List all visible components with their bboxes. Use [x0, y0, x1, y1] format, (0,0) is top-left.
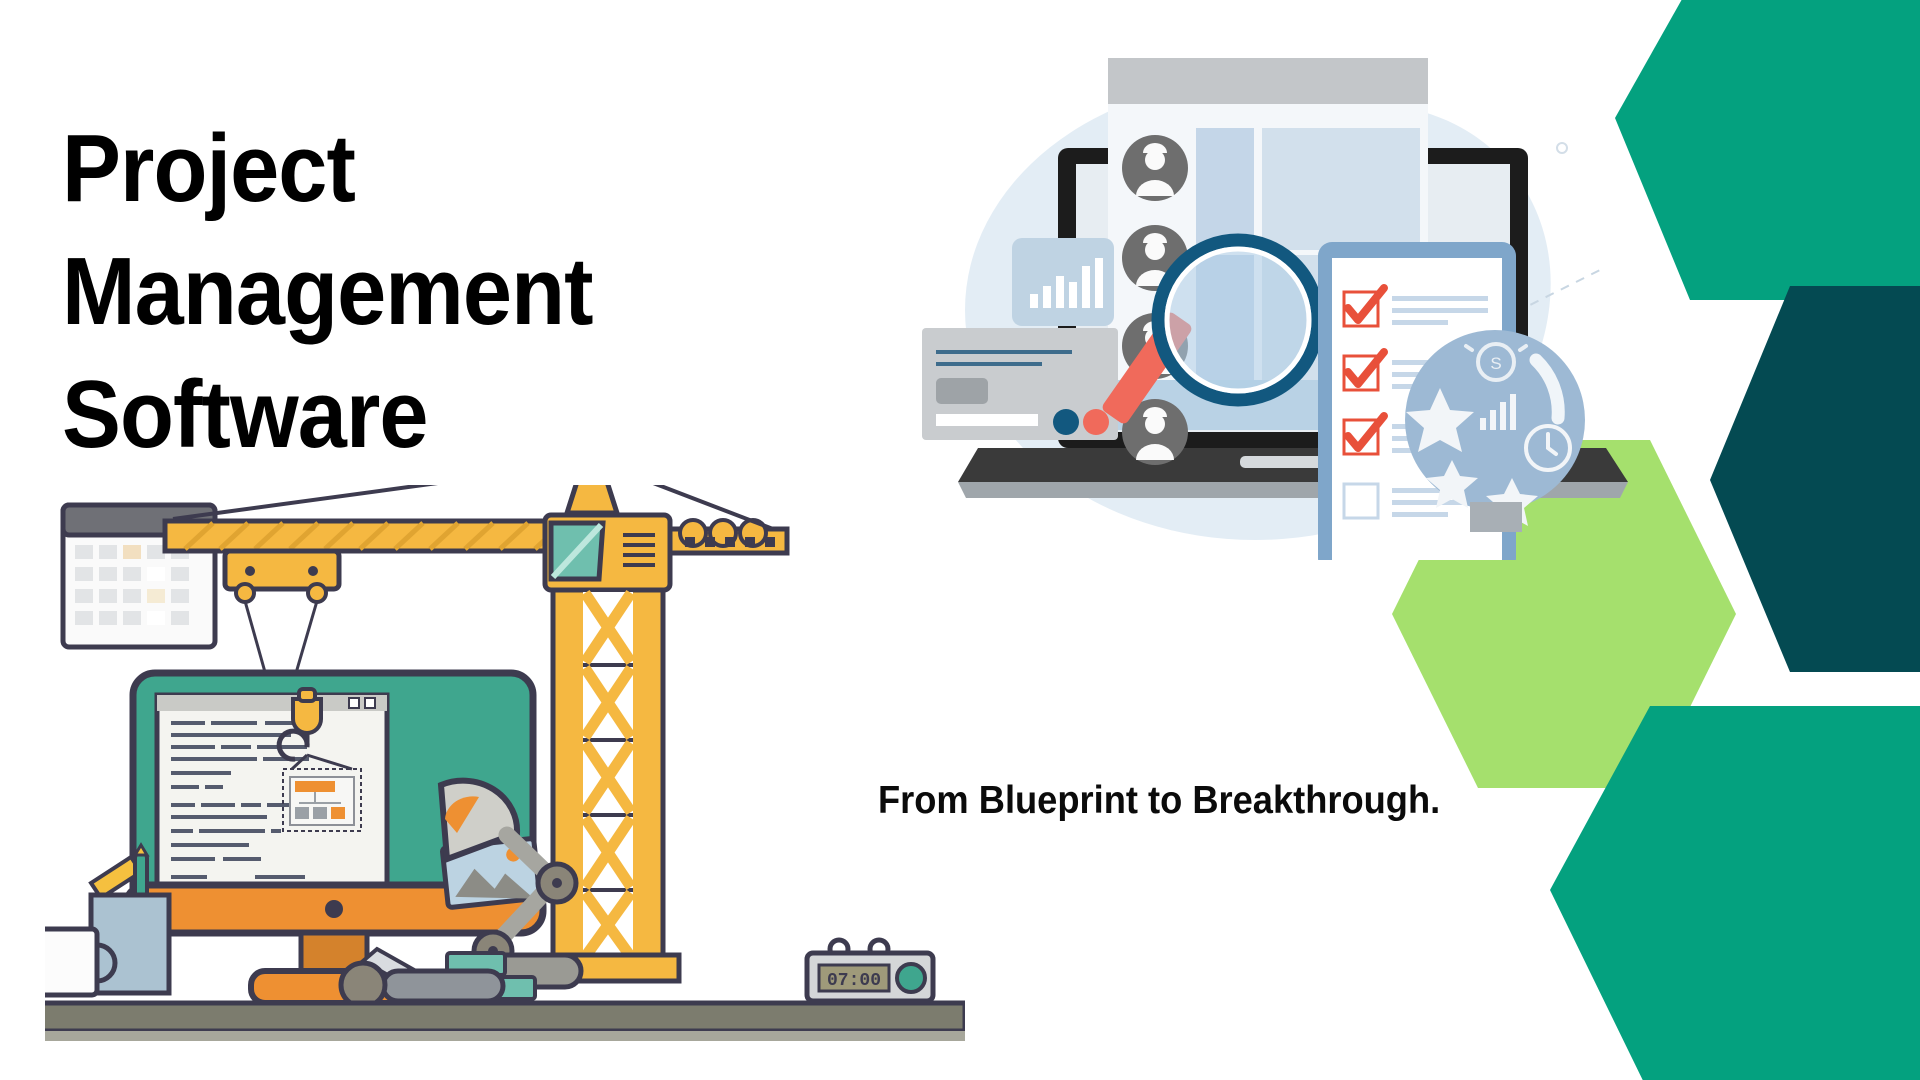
page-title: Project Management Software [62, 108, 816, 477]
desk-surface [45, 1003, 965, 1031]
page-title-line-3: Software [62, 354, 816, 477]
slide-canvas: Project Management Software From Bluepri… [0, 0, 1920, 1080]
credit-card [922, 328, 1118, 440]
worker-avatar [1122, 135, 1188, 201]
card-dot-red [1083, 409, 1109, 435]
card-dot-blue [1053, 409, 1079, 435]
small-bubble [1557, 143, 1567, 153]
project-review-illustration: S [900, 20, 1640, 560]
document-header-bar [1108, 58, 1428, 104]
crane-apex [567, 485, 617, 513]
construction-workspace-illustration: 07:00 [45, 485, 965, 1080]
hexagon-teal-top [1615, 0, 1920, 300]
roller-machine [341, 963, 503, 1007]
desk-shadow [45, 1031, 965, 1041]
page-title-line-1: Project [62, 108, 816, 231]
alarm-clock-display: 07:00 [827, 971, 881, 991]
page-title-line-2: Management [62, 231, 816, 354]
hexagon-teal-bottom [1550, 706, 1920, 1080]
hexagon-dark-teal [1710, 286, 1920, 672]
monitor-power-dot [325, 900, 343, 918]
crane-mast [537, 590, 679, 981]
card-chip [936, 378, 988, 404]
svg-text:S: S [1490, 354, 1501, 373]
webpage-block-wireframe [283, 769, 361, 831]
bar-chart-icon [1030, 294, 1038, 308]
crane-counter-jib [669, 520, 787, 553]
seal-stand [1470, 502, 1522, 532]
crane-cab [545, 515, 670, 590]
alarm-clock: 07:00 [807, 940, 933, 1011]
analytics-card [1012, 238, 1114, 326]
